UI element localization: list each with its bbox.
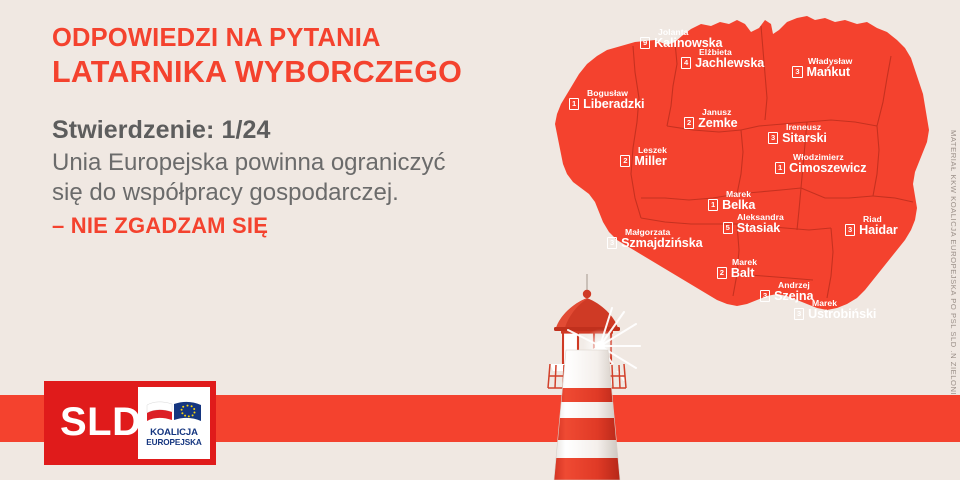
lighthouse-icon — [528, 272, 646, 480]
candidate-last-name: Stasiak — [737, 222, 780, 235]
candidate-last-name: Szmajdzińska — [621, 237, 702, 250]
candidate-list-number: 2 — [620, 155, 630, 167]
copy-block: ODPOWIEDZI NA PYTANIA LATARNIKA WYBORCZE… — [52, 24, 522, 239]
candidate-last-name: Haidar — [859, 224, 898, 237]
map-candidate-label: Elżbieta4Jachlewska — [681, 48, 764, 70]
candidate-list-number: 5 — [723, 222, 733, 234]
candidate-last-name: Jachlewska — [695, 57, 764, 70]
candidate-list-number: 2 — [684, 117, 694, 129]
map-candidate-label: Janusz2Zemke — [684, 108, 738, 130]
map-candidate-label: Marek2Balt — [714, 258, 757, 280]
candidate-list-number: 2 — [717, 267, 727, 279]
candidate-list-number: 1 — [708, 199, 718, 211]
candidate-last-name-row: 4Jachlewska — [681, 57, 764, 70]
candidate-last-name-row: 5Stasiak — [719, 222, 784, 235]
candidate-last-name-row: 3Haidar — [845, 224, 898, 237]
map-candidate-label: Bogusław1Liberadzki — [569, 89, 644, 111]
map-candidate-label: Aleksandra5Stasiak — [719, 213, 784, 235]
candidate-last-name-row: 3Sitarski — [768, 132, 827, 145]
candidate-last-name-row: 1Liberadzki — [569, 98, 644, 111]
polish-flag-eu-flag-icon — [145, 398, 203, 426]
headline-line-2: LATARNIKA WYBORCZEGO — [52, 55, 522, 90]
statement-text: Unia Europejska powinna ograniczyć się d… — [52, 148, 482, 208]
statement-answer: – NIE ZGADZAM SIĘ — [52, 213, 522, 239]
candidate-list-number: 3 — [760, 290, 770, 302]
coalition-name-line-2: EUROPEJSKA — [146, 439, 201, 448]
map-candidate-label: Małgorzata3Szmajdzińska — [607, 228, 703, 250]
candidate-last-name: Mańkut — [807, 66, 850, 79]
candidate-last-name-row: 1Belka — [708, 199, 755, 212]
candidate-last-name-row: 1Cimoszewicz — [775, 162, 866, 175]
candidate-last-name: Sitarski — [782, 132, 827, 145]
map-candidate-label: Marek1Belka — [708, 190, 755, 212]
sld-logo: SLD — [44, 381, 216, 465]
candidate-last-name: Ustrobiński — [808, 308, 876, 321]
material-credit: MATERIAŁ KKW KOALICJA EUROPEJSKA PO PSL … — [949, 130, 958, 395]
map-candidate-label: Ireneusz3Sitarski — [768, 123, 827, 145]
candidate-last-name-row: 2Miller — [620, 155, 667, 168]
map-candidate-label: Marek3Ustrobiński — [794, 299, 876, 321]
candidate-list-number: 4 — [681, 57, 691, 69]
candidate-last-name: Belka — [722, 199, 755, 212]
candidate-last-name: Balt — [731, 267, 754, 280]
candidate-list-number: 3 — [792, 66, 802, 78]
map-candidate-label: Włodzimierz1Cimoszewicz — [775, 153, 866, 175]
candidate-last-name-row: 3Ustrobiński — [794, 308, 876, 321]
headline-line-1: ODPOWIEDZI NA PYTANIA — [52, 24, 522, 54]
candidate-list-number: 1 — [569, 98, 579, 110]
candidate-last-name: Zemke — [698, 117, 737, 130]
map-candidate-label: Riad3Haidar — [845, 215, 898, 237]
candidate-list-number: 1 — [775, 162, 785, 174]
candidate-last-name-row: 2Zemke — [684, 117, 738, 130]
candidate-list-number: 3 — [845, 224, 855, 236]
map-candidate-label: Leszek2Miller — [620, 146, 667, 168]
candidate-last-name: Cimoszewicz — [789, 162, 866, 175]
candidate-last-name: Liberadzki — [583, 98, 644, 111]
candidate-list-number: 3 — [768, 132, 778, 144]
candidate-list-number: 3 — [794, 308, 804, 320]
candidate-list-number: 9 — [640, 37, 650, 49]
map-candidate-label: Władysław3Mańkut — [790, 57, 852, 79]
statement-label: Stwierdzenie: 1/24 — [52, 115, 522, 145]
koalicja-europejska-badge: KOALICJA EUROPEJSKA — [138, 387, 210, 459]
poster-canvas: Jolanta9KalinowskaElżbieta4JachlewskaWła… — [0, 0, 960, 480]
candidate-last-name-row: 3Szmajdzińska — [607, 237, 703, 250]
candidate-list-number: 3 — [607, 237, 617, 249]
candidate-last-name-row: 3Mańkut — [790, 66, 852, 79]
candidate-last-name-row: 2Balt — [714, 267, 757, 280]
candidate-last-name: Miller — [634, 155, 666, 168]
sld-wordmark: SLD — [60, 402, 142, 444]
